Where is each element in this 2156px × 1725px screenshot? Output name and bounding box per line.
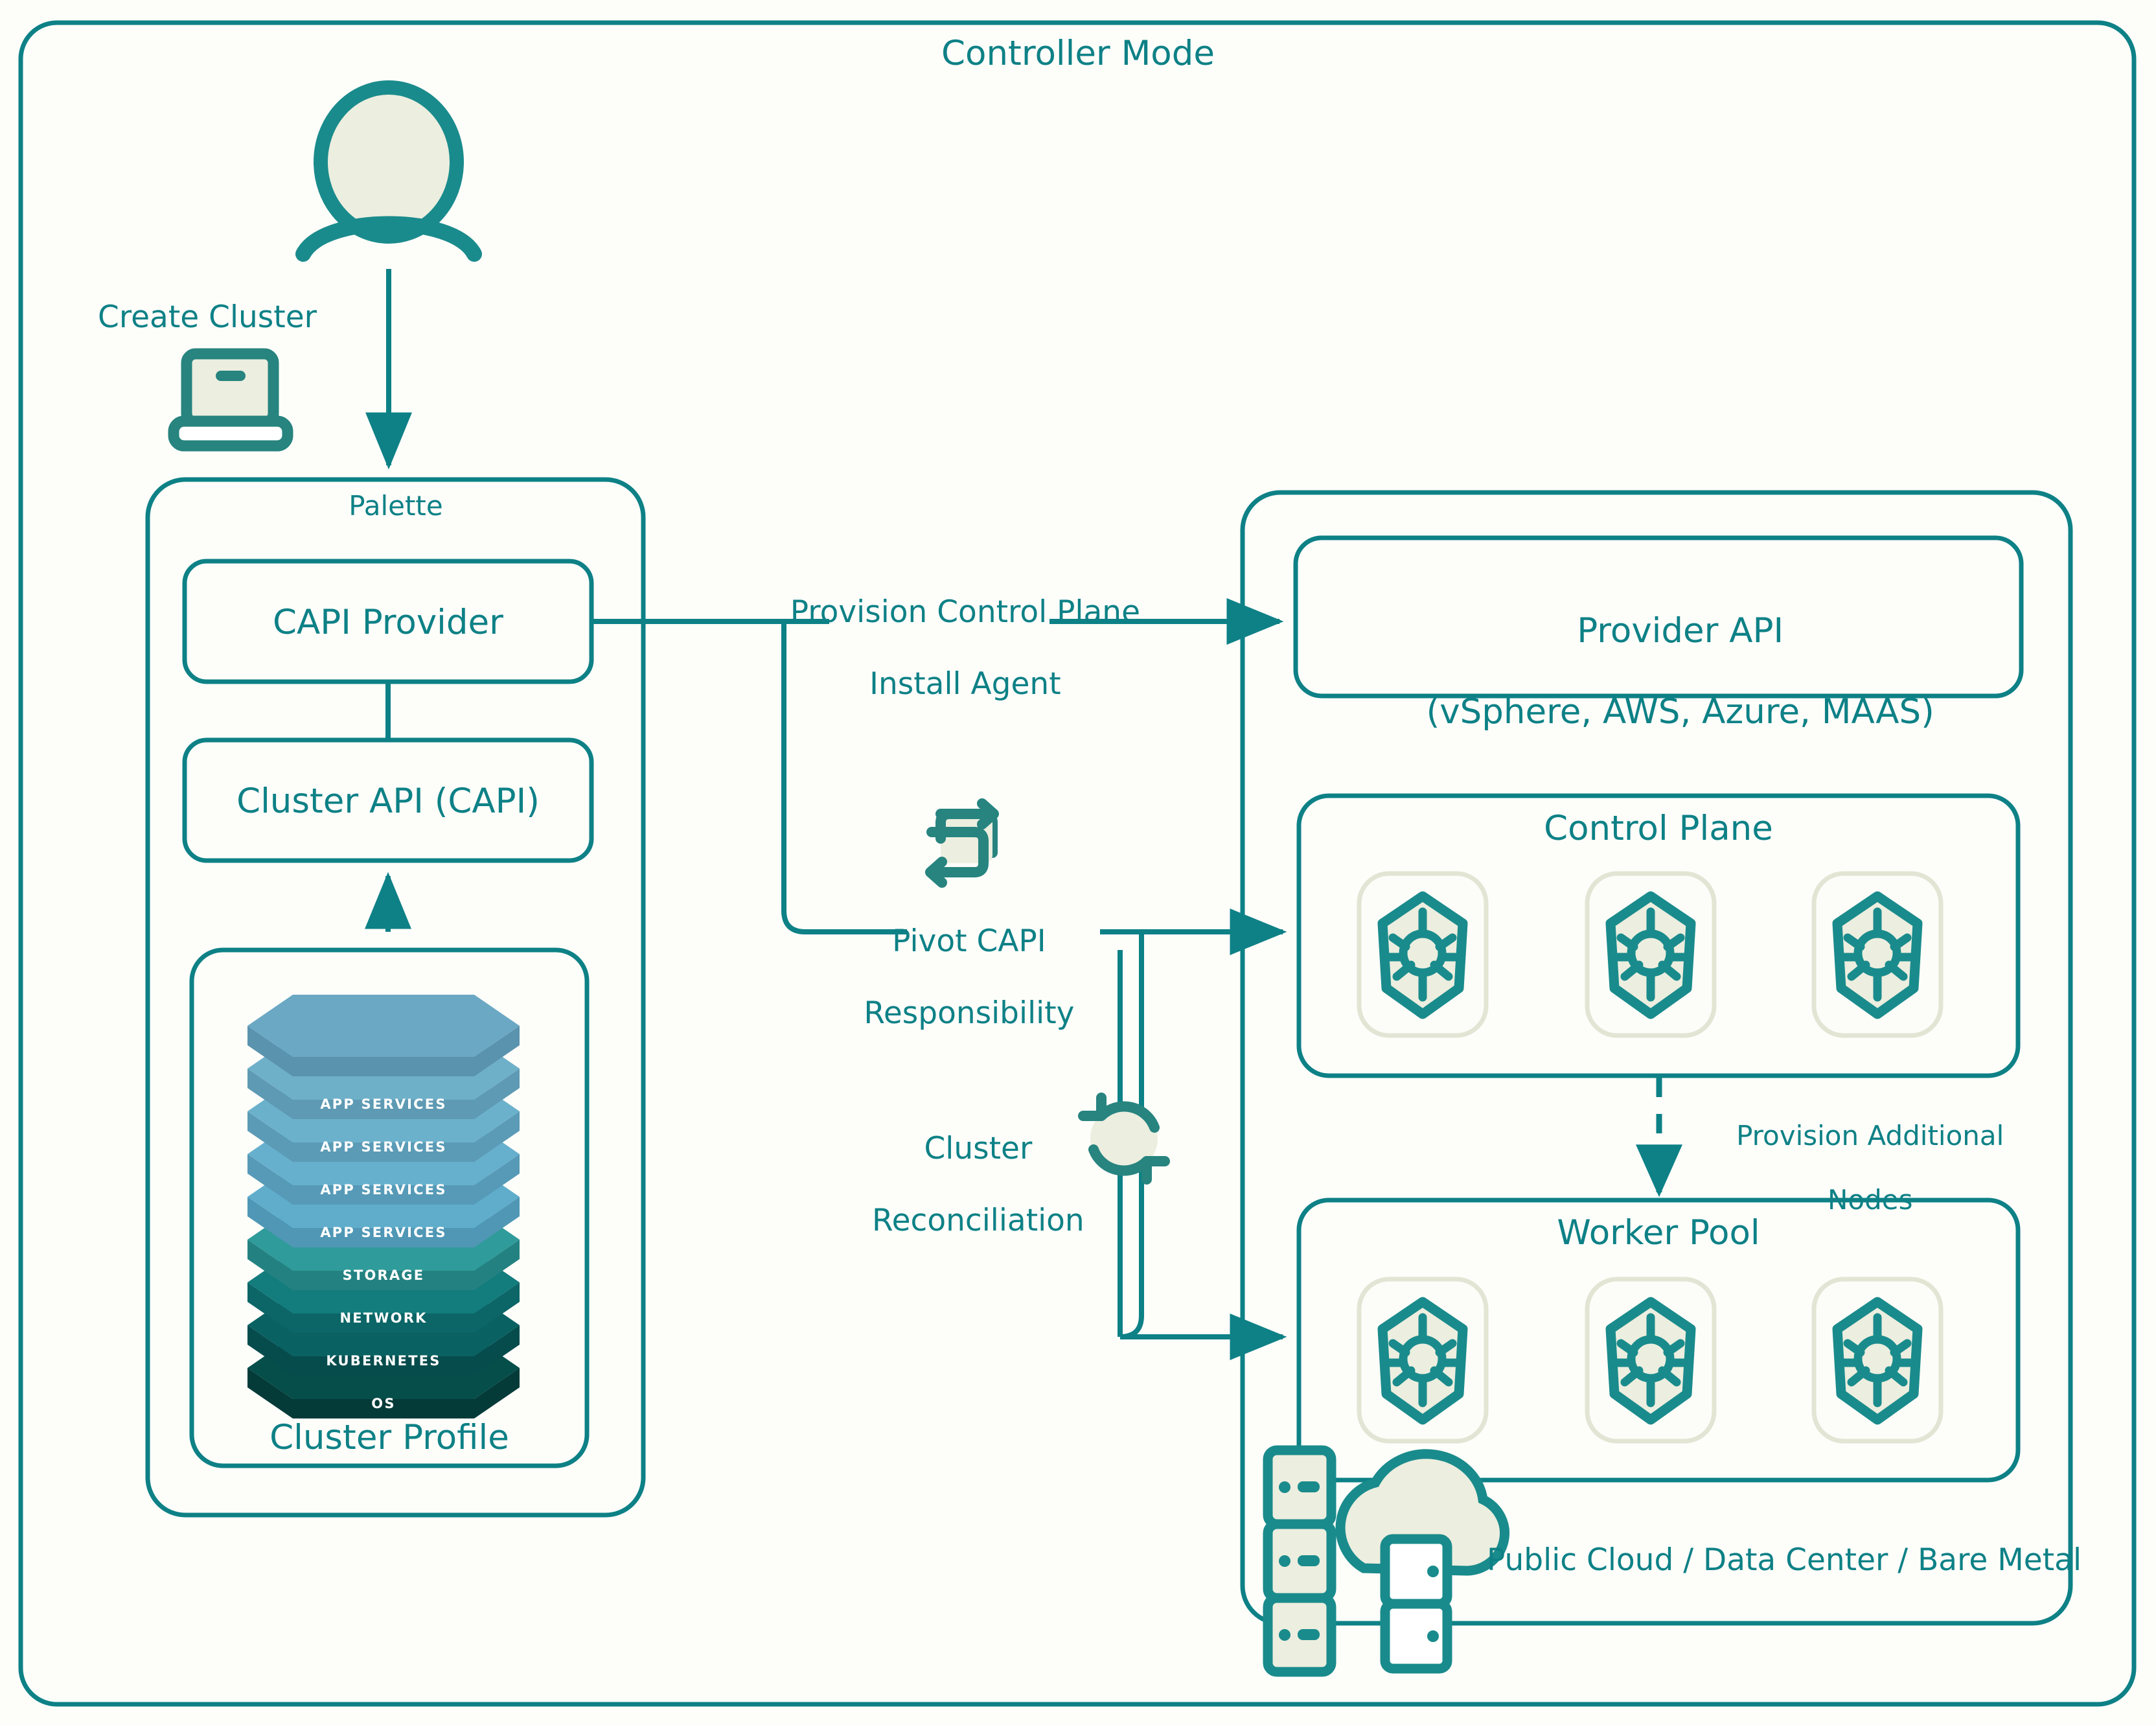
refresh-cycle-icon bbox=[1083, 1098, 1165, 1179]
server-rack-icon bbox=[1268, 1450, 1331, 1672]
profile-layer-label: APP SERVICES bbox=[320, 1225, 446, 1240]
create-cluster-label: Create Cluster bbox=[62, 299, 353, 335]
cluster-profile-stack: OSKUBERNETESNETWORKSTORAGEAPP SERVICESAP… bbox=[228, 988, 552, 1416]
pivot-exchange-icon bbox=[930, 804, 994, 883]
cluster-reconciliation-line2: Reconciliation bbox=[872, 1203, 1084, 1238]
provider-api-line1: Provider API bbox=[1577, 611, 1783, 651]
profile-layer-label: STORAGE bbox=[343, 1268, 425, 1283]
cluster-reconciliation-line1: Cluster bbox=[924, 1131, 1032, 1166]
pivot-capi-line2: Responsibility bbox=[864, 995, 1074, 1031]
provision-control-plane-line1: Provision Control Plane bbox=[790, 594, 1140, 630]
worker-pool-title: Worker Pool bbox=[1299, 1213, 2018, 1254]
diagram-canvas: OSKUBERNETESNETWORKSTORAGEAPP SERVICESAP… bbox=[0, 0, 2156, 1725]
control-plane-title: Control Plane bbox=[1299, 809, 2018, 850]
cloud-server-icon bbox=[1340, 1454, 1504, 1669]
provision-control-plane-line2: Install Agent bbox=[869, 666, 1061, 702]
cluster-reconciliation-label: Cluster Reconciliation bbox=[829, 1095, 1088, 1275]
profile-layer-label: APP SERVICES bbox=[320, 1139, 446, 1155]
cluster-profile-hex-layers: OSKUBERNETESNETWORKSTORAGEAPP SERVICESAP… bbox=[228, 988, 539, 1431]
laptop-icon bbox=[174, 354, 288, 446]
profile-layer-label: OS bbox=[371, 1396, 395, 1411]
provision-additional-nodes-line2: Nodes bbox=[1828, 1184, 1913, 1216]
profile-layer-label: APP SERVICES bbox=[320, 1096, 446, 1112]
cluster-profile-label: Cluster Profile bbox=[192, 1418, 587, 1459]
diagram-vector-layer bbox=[0, 0, 2156, 1725]
footer-environment-label: Public Cloud / Data Center / Bare Metal bbox=[1487, 1542, 2070, 1578]
provision-control-plane-label: Provision Control Plane Install Agent bbox=[706, 559, 1186, 738]
profile-layer bbox=[247, 995, 520, 1076]
cluster-api-label[interactable]: Cluster API (CAPI) bbox=[185, 781, 591, 822]
provision-additional-nodes-line1: Provision Additional bbox=[1736, 1120, 2004, 1152]
provider-api-line2: (vSphere, AWS, Azure, MAAS) bbox=[1427, 692, 1934, 732]
pivot-capi-line1: Pivot CAPI bbox=[892, 923, 1046, 959]
pivot-capi-label: Pivot CAPI Responsibility bbox=[814, 888, 1086, 1067]
profile-layer-label: KUBERNETES bbox=[326, 1353, 441, 1369]
palette-title: Palette bbox=[234, 490, 558, 522]
profile-layer-label: APP SERVICES bbox=[320, 1182, 446, 1198]
user-icon bbox=[303, 87, 474, 254]
capi-provider-label[interactable]: CAPI Provider bbox=[185, 603, 591, 643]
page-title: Controller Mode bbox=[754, 34, 1402, 75]
provider-api-label[interactable]: Provider API (vSphere, AWS, Azure, MAAS) bbox=[1296, 570, 2021, 773]
profile-layer-label: NETWORK bbox=[339, 1310, 427, 1326]
